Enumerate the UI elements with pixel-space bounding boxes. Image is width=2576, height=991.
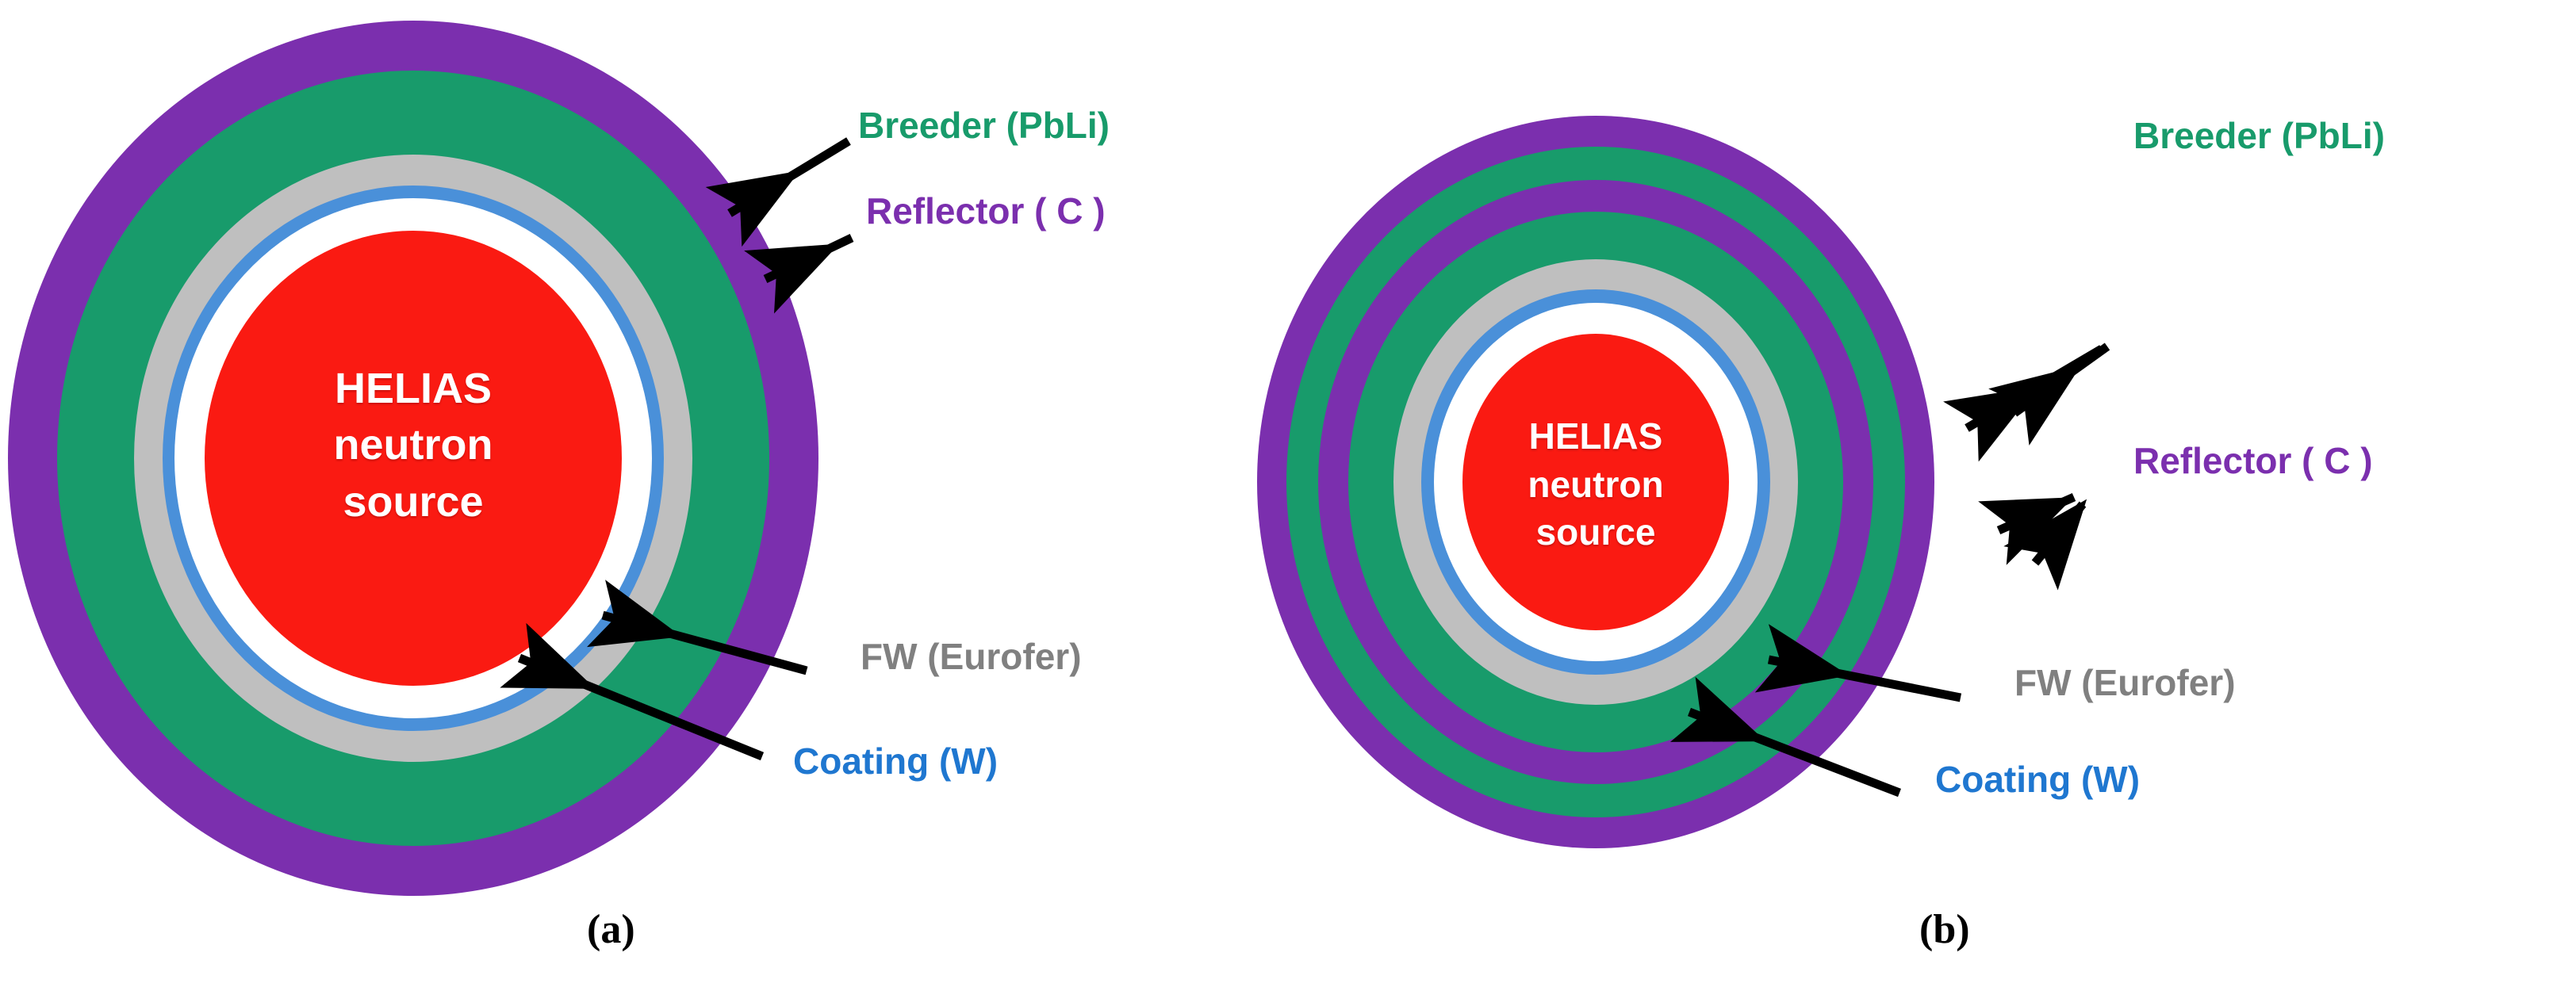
arrow-a-reflector <box>765 238 852 279</box>
caption-a: (a) <box>587 906 635 953</box>
core-line: HELIAS <box>207 361 619 417</box>
arrow-a-breeder <box>730 141 849 213</box>
core-line: HELIAS <box>1397 412 1794 461</box>
label-b-reflector: Reflector ( C ) <box>2133 442 2373 479</box>
label-b-fw: FW (Eurofer) <box>2014 664 2236 701</box>
core-line: neutron <box>207 417 619 473</box>
core-line: source <box>207 474 619 530</box>
panel-a-core-text: HELIAS neutron source <box>207 361 619 530</box>
core-line: source <box>1397 508 1794 557</box>
label-b-coating: Coating (W) <box>1935 761 2140 798</box>
label-b-breeder: Breeder (PbLi) <box>2133 117 2385 154</box>
figure-canvas: HELIAS neutron source Breeder (PbLi) Ref… <box>0 0 2576 991</box>
label-a-reflector: Reflector ( C ) <box>866 193 1106 229</box>
label-a-breeder: Breeder (PbLi) <box>858 107 1110 143</box>
panel-b-core-text: HELIAS neutron source <box>1397 412 1794 557</box>
arrow-b-breeder-inner <box>1967 349 2102 428</box>
caption-b: (b) <box>1919 906 1970 953</box>
core-line: neutron <box>1397 461 1794 509</box>
label-a-fw: FW (Eurofer) <box>861 638 1082 675</box>
label-a-coating: Coating (W) <box>793 743 998 779</box>
